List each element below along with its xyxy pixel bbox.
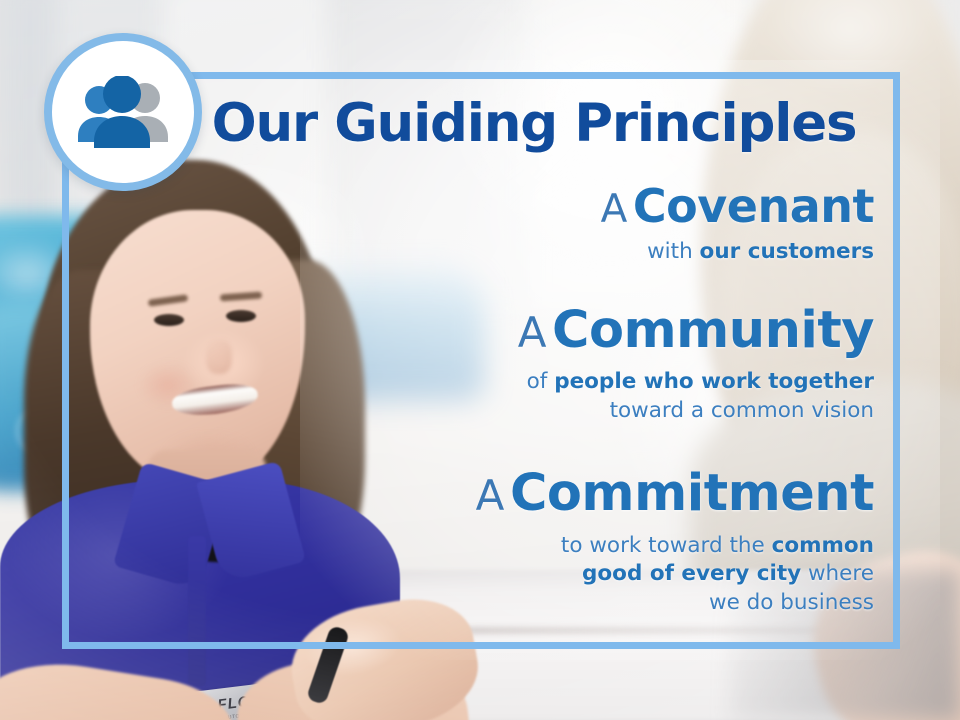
group-of-people-icon	[71, 76, 175, 148]
principle-subtext-line: with our customers	[270, 238, 874, 266]
principle-title-community: A Community	[270, 304, 874, 358]
principle-article: A	[476, 471, 505, 520]
principle-word: Commitment	[510, 464, 874, 523]
principle-subtext-line: we do business	[270, 589, 874, 617]
principle-subtext-line: to work toward the common	[270, 532, 874, 560]
principle-block-commitment: A Commitment to work toward the commongo…	[270, 467, 874, 617]
principle-subtext-covenant: with our customers	[270, 238, 874, 266]
associate-eye-right	[226, 310, 256, 322]
principle-word: Community	[552, 301, 874, 360]
principle-article: A	[601, 187, 628, 232]
principle-word: Covenant	[633, 179, 874, 233]
principle-subtext-line: of people who work together	[270, 368, 874, 396]
principle-subtext-line: good of every city where	[270, 560, 874, 588]
associate-shirt-placket	[188, 536, 206, 686]
associate-eye-left	[154, 314, 184, 326]
principle-title-commitment: A Commitment	[270, 467, 874, 521]
principle-subtext-community: of people who work togethertoward a comm…	[270, 368, 874, 425]
principle-block-covenant: A Covenant with our customers	[270, 182, 874, 266]
group-of-people-icon-badge	[44, 33, 202, 191]
principle-subtext-commitment: to work toward the commongood of every c…	[270, 532, 874, 617]
principle-title-covenant: A Covenant	[270, 182, 874, 231]
principle-subtext-line: toward a common vision	[270, 397, 874, 425]
page-title: Our Guiding Principles	[204, 96, 864, 151]
guiding-principles-graphic: FLOW FLOW AUTOMOTIVE	[0, 0, 960, 720]
associate-nose	[206, 340, 232, 374]
principle-block-community: A Community of people who work togethert…	[270, 304, 874, 425]
principle-article: A	[518, 308, 547, 357]
principles-list: A Covenant with our customers A Communit…	[270, 182, 874, 631]
